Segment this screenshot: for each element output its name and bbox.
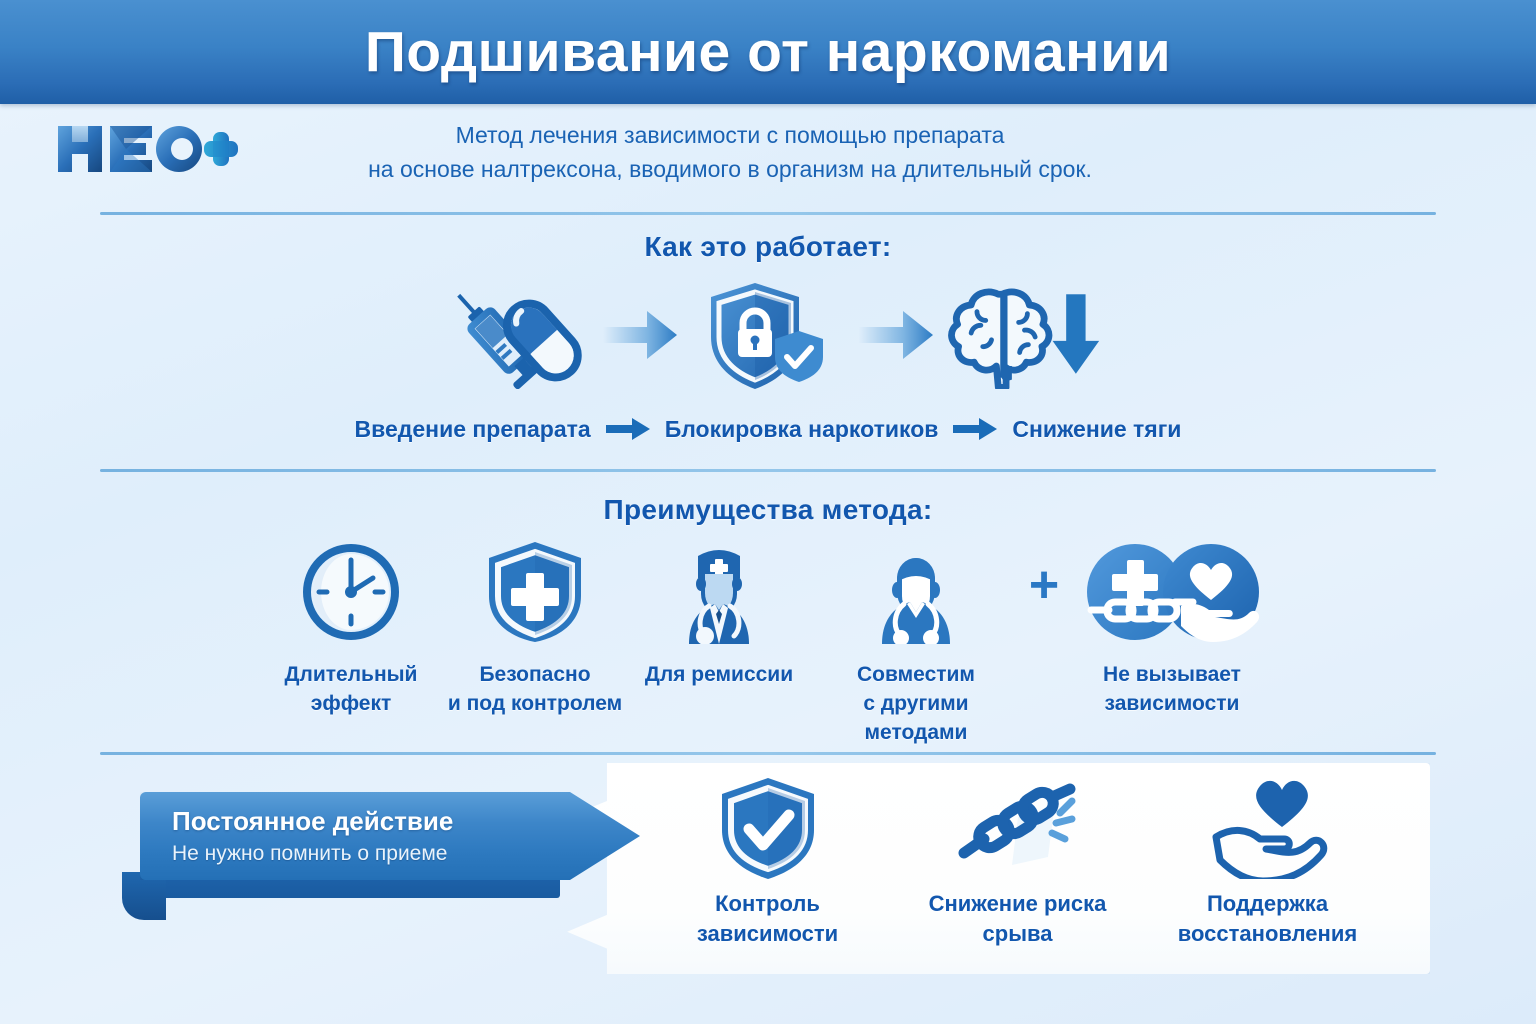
benefit-label-no-dependence-line2: зависимости [1103,689,1241,718]
how-it-works-icons [0,280,1536,390]
divider-2 [100,469,1436,472]
shield-cross-icon [485,540,585,644]
hand-heart-icon [1208,775,1328,879]
card-label-control: Контроль зависимости [643,889,893,949]
benefit-item-safe: Безопасно и под контролем [443,540,627,718]
divider-1 [100,212,1436,215]
doctor-cap-icon [667,540,771,644]
page-title: Подшивание от наркомании [365,19,1171,85]
card-item-risk: Снижение риска срыва [893,775,1143,949]
intro-line-2: на основе налтрексона, вводимого в орган… [290,152,1170,186]
how-it-works-heading: Как это работает: [0,231,1536,263]
card-label-support-line2: восстановления [1178,919,1357,949]
plus-symbol: + [1021,540,1067,644]
shield-check-icon [716,775,820,879]
clock-icon [299,540,403,644]
syringe-pill-icon [432,280,592,390]
page-header: Подшивание от наркомании [0,0,1536,104]
benefits-row: Длительный эффект Безопасно и под контро… [0,540,1536,740]
benefit-item-long-effect: Длительный эффект [259,540,443,718]
bottom-card-items: Контроль зависимости [545,775,1430,965]
shield-lock-check-icon [688,280,848,390]
benefit-label-remission: Для ремиссии [645,660,793,689]
chain-break-heart-hand-icon [1077,540,1267,644]
benefit-item-compatible: Совместим с другими методами [811,540,1021,747]
divider-3 [100,752,1436,755]
intro-row: Метод лечения зависимости с помощью преп… [0,104,1536,208]
infographic-page: Подшивание от наркомании [0,0,1536,1024]
card-label-support-line1: Поддержка [1178,889,1357,919]
intro-line-1: Метод лечения зависимости с помощью преп… [290,118,1170,152]
brain-down-arrow-icon [944,280,1104,390]
arrow-right-icon-label-2 [938,418,1012,440]
benefit-label-compatible: Совместим с другими методами [857,660,975,747]
brand-logo [48,118,238,180]
how-it-works-label-1: Введение препарата [355,416,591,443]
how-it-works-label-3: Снижение тяги [1012,416,1181,443]
how-it-works-label-2: Блокировка наркотиков [665,416,939,443]
card-item-control: Контроль зависимости [643,775,893,949]
benefit-label-compatible-line3: методами [857,718,975,747]
benefit-label-no-dependence-line1: Не вызывает [1103,660,1241,689]
ribbon-title: Постоянное действие [172,804,640,838]
benefit-label-safe-line1: Безопасно [448,660,622,689]
benefit-label-no-dependence: Не вызывает зависимости [1103,660,1241,718]
how-it-works-labels: Введение препарата Блокировка наркотиков… [0,408,1536,450]
broken-chain-icon [956,775,1080,879]
arrow-right-icon-2 [848,280,944,390]
neo-plus-logo-icon [48,118,238,180]
ribbon-subtitle: Не нужно помнить о приеме [172,839,640,869]
benefits-heading: Преимущества метода: [0,494,1536,526]
card-label-risk: Снижение риска срыва [893,889,1143,949]
arrow-right-icon-1 [592,280,688,390]
benefit-label-compatible-line1: Совместим [857,660,975,689]
arrow-right-icon-label-1 [591,418,665,440]
benefit-label-safe: Безопасно и под контролем [448,660,622,718]
intro-text: Метод лечения зависимости с помощью преп… [290,118,1170,186]
card-label-support: Поддержка восстановления [1178,889,1357,949]
benefit-label-safe-line2: и под контролем [448,689,622,718]
card-item-support: Поддержка восстановления [1143,775,1393,949]
benefit-label-long-effect: Длительный эффект [259,660,443,718]
benefit-item-remission: Для ремиссии [627,540,811,689]
benefit-item-no-dependence: Не вызывает зависимости [1067,540,1277,718]
ribbon-banner: Постоянное действие Не нужно помнить о п… [140,792,640,880]
benefit-label-compatible-line2: с другими [857,689,975,718]
doctor-stethoscope-icon [864,540,968,644]
